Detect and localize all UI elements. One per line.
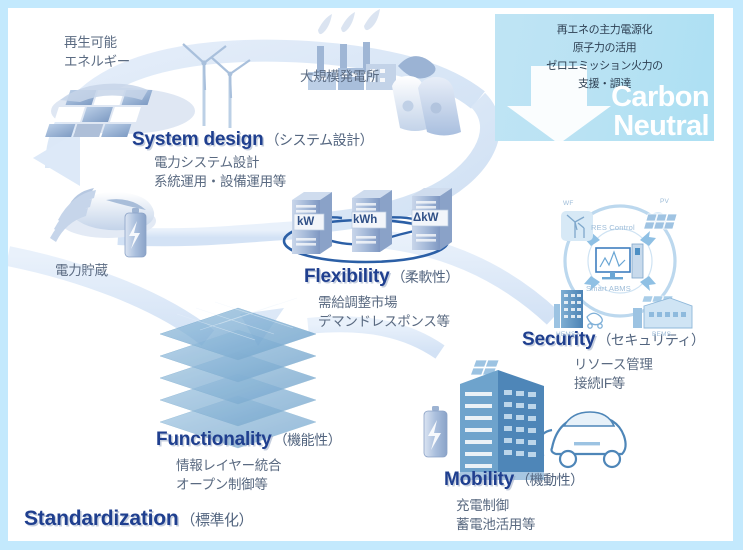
rack-tag-kw: kW — [297, 216, 314, 228]
functionality-title: Functionality（機能性） — [156, 430, 341, 449]
mobility-sub-1: 充電制御 — [456, 496, 584, 515]
system-design-sub-1: 電力システム設計 — [154, 153, 373, 172]
flexibility-subtitle: 需給調整市場 デマンドレスポンス等 — [318, 293, 459, 331]
label-renewable-energy: 再生可能 エネルギー — [64, 33, 130, 71]
mobility-title-jp: （機動性） — [516, 472, 584, 488]
security-node-label-hems: HEMS — [556, 331, 576, 338]
functionality-title-jp: （機能性） — [274, 432, 342, 448]
mobility-title: Mobility（機動性） — [444, 470, 584, 489]
section-flexibility: Flexibility（柔軟性） 需給調整市場 デマンドレスポンス等 — [304, 267, 459, 331]
cn-headline-line1: Carbon — [611, 83, 709, 111]
standardization-title: Standardization（標準化） — [24, 508, 253, 529]
functionality-sub-2: オープン制御等 — [176, 475, 341, 494]
label-large-power-plant: 大規模発電所 — [300, 67, 379, 86]
section-mobility: Mobility（機動性） 充電制御 蓄電池活用等 — [444, 470, 584, 534]
label-renewable-energy-line1: 再生可能 — [64, 33, 130, 52]
diagram-frame: 再エネの主力電源化 原子力の活用 ゼロエミッション火力の 支援・調達 Carbo… — [0, 0, 743, 550]
mobility-title-en: Mobility — [444, 469, 514, 490]
system-design-sub-2: 系統運用・設備運用等 — [154, 172, 373, 191]
security-node-label-pv: PV — [660, 198, 669, 205]
functionality-title-en: Functionality — [156, 429, 272, 450]
flexibility-sub-1: 需給調整市場 — [318, 293, 459, 312]
flexibility-title-en: Flexibility — [304, 266, 389, 287]
flexibility-title: Flexibility（柔軟性） — [304, 267, 459, 286]
security-title-jp: （セキュリティ） — [597, 332, 704, 348]
section-system-design: System design（システム設計） 電力システム設計 系統運用・設備運用… — [132, 130, 373, 191]
section-security: Security（セキュリティ） リソース管理 接続IF等 — [522, 330, 705, 393]
flexibility-title-jp: （柔軟性） — [391, 269, 459, 285]
cn-headline-line2: Neutral — [611, 112, 709, 140]
section-functionality: Functionality（機能性） 情報レイヤー統合 オープン制御等 — [156, 430, 341, 494]
system-design-subtitle: 電力システム設計 系統運用・設備運用等 — [154, 153, 373, 191]
system-design-title: System design（システム設計） — [132, 130, 373, 149]
cn-line-2: 原子力の活用 — [495, 39, 714, 57]
standardization-title-en: Standardization — [24, 507, 179, 530]
flexibility-sub-2: デマンドレスポンス等 — [318, 312, 459, 331]
system-design-title-jp: （システム設計） — [266, 132, 374, 148]
system-design-title-en: System design — [132, 129, 264, 150]
functionality-sub-1: 情報レイヤー統合 — [176, 456, 341, 475]
security-sub-1: リソース管理 — [574, 355, 705, 374]
security-subtitle: リソース管理 接続IF等 — [574, 355, 705, 393]
security-node-label-wf: WF — [563, 200, 574, 207]
mobility-sub-2: 蓄電池活用等 — [456, 515, 584, 534]
label-renewable-energy-line2: エネルギー — [64, 52, 130, 71]
carbon-neutral-headline: Carbon Neutral — [611, 83, 709, 140]
mobility-subtitle: 充電制御 蓄電池活用等 — [456, 496, 584, 534]
cn-line-1: 再エネの主力電源化 — [495, 21, 714, 39]
security-sub-2: 接続IF等 — [574, 374, 705, 393]
security-center-label-bottom: Smart ABMS — [586, 284, 631, 293]
cn-line-3: ゼロエミッション火力の — [495, 57, 714, 75]
security-center-label-top: RES Control — [591, 223, 635, 232]
security-node-label-bems: BEMS — [652, 331, 671, 338]
diagram-canvas: 再エネの主力電源化 原子力の活用 ゼロエミッション火力の 支援・調達 Carbo… — [8, 8, 733, 541]
rack-tag-delta-kw: ΔkW — [413, 212, 439, 224]
section-standardization: Standardization（標準化） — [24, 508, 253, 529]
label-power-storage: 電力貯蔵 — [55, 261, 108, 280]
carbon-neutral-callout: 再エネの主力電源化 原子力の活用 ゼロエミッション火力の 支援・調達 Carbo… — [495, 14, 714, 141]
security-title: Security（セキュリティ） — [522, 330, 705, 349]
standardization-title-jp: （標準化） — [181, 512, 254, 529]
functionality-subtitle: 情報レイヤー統合 オープン制御等 — [176, 456, 341, 494]
rack-tag-kwh: kWh — [353, 214, 377, 226]
